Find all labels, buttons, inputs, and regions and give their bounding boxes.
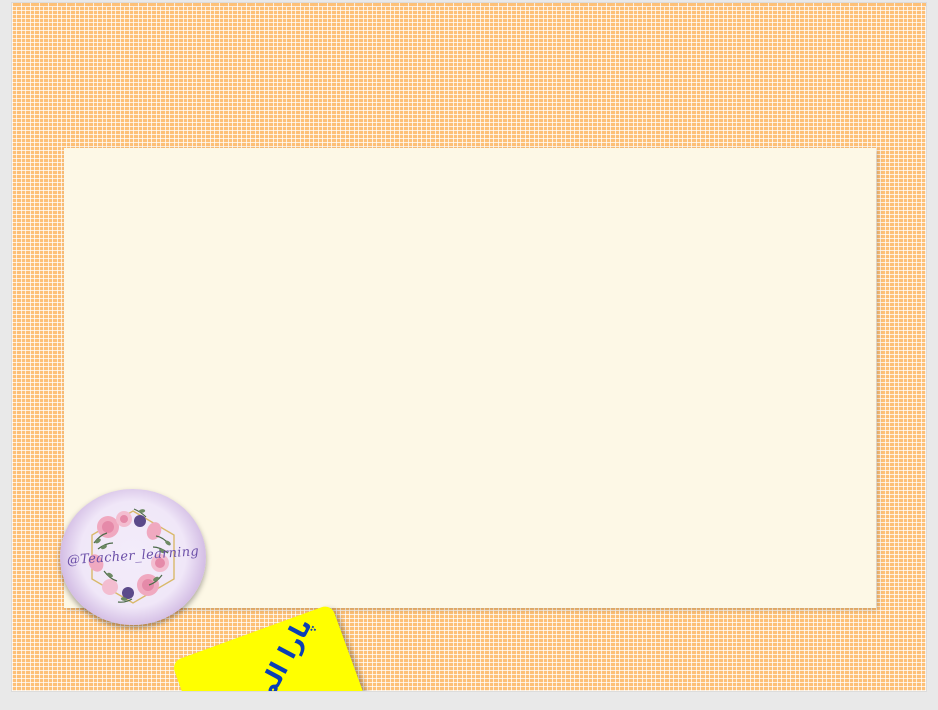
paralympic-callout[interactable]: پارا المپیک <box>188 629 358 691</box>
presentation-frame: @Teacher_learning پارا المپیک محمد فایق … <box>0 0 938 710</box>
teacher-learning-logo[interactable]: @Teacher_learning <box>60 489 206 625</box>
slide-canvas[interactable]: @Teacher_learning پارا المپیک محمد فایق … <box>12 3 926 691</box>
